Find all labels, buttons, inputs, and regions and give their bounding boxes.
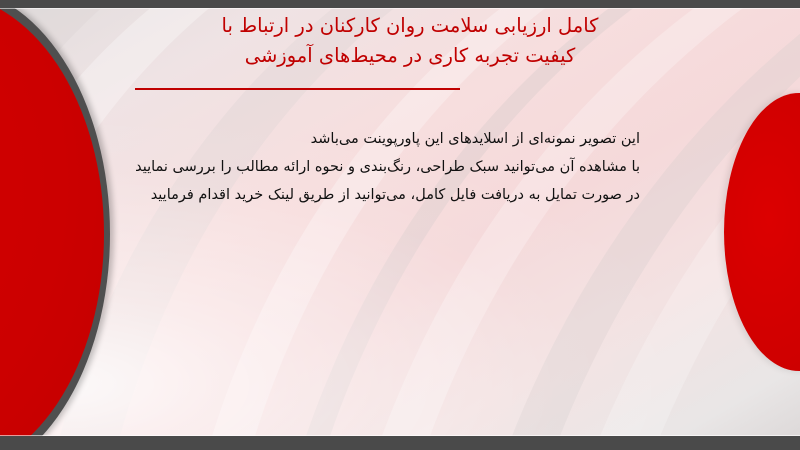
frame-top-bar [0, 0, 800, 8]
slide-title: کامل ارزیابی سلامت روان کارکنان در ارتبا… [100, 11, 720, 71]
frame-bottom-hairline [0, 435, 800, 436]
frame-top-hairline [0, 8, 800, 9]
red-ellipse-left [0, 7, 104, 436]
body-line-3: در صورت تمایل به دریافت فایل کامل، می‌تو… [170, 181, 640, 209]
background-glow [0, 7, 800, 436]
background-rays-decoration [0, 7, 800, 436]
slide-canvas: کامل ارزیابی سلامت روان کارکنان در ارتبا… [0, 7, 800, 436]
presentation-slide: کامل ارزیابی سلامت روان کارکنان در ارتبا… [0, 0, 800, 450]
slide-body: این تصویر نمونه‌ای از اسلایدهای این پاور… [170, 125, 640, 209]
body-line-1: این تصویر نمونه‌ای از اسلایدهای این پاور… [170, 125, 640, 153]
body-line-2: با مشاهده آن می‌توانید سبک طراحی، رنگ‌بن… [170, 153, 640, 181]
title-underline [135, 88, 460, 90]
frame-bottom-bar [0, 436, 800, 450]
title-line-2: کیفیت تجربه کاری در محیط‌های آموزشی [100, 41, 720, 71]
title-line-1: کامل ارزیابی سلامت روان کارکنان در ارتبا… [100, 11, 720, 41]
red-ellipse-right [724, 93, 800, 371]
